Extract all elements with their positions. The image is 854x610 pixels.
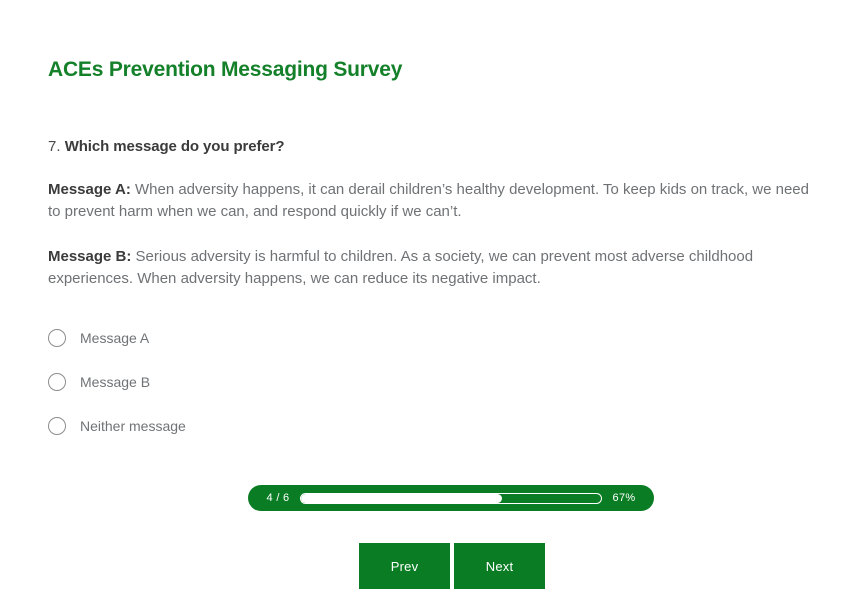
next-button[interactable]: Next bbox=[454, 543, 545, 589]
question-block: 7. Which message do you prefer? Message … bbox=[48, 136, 816, 313]
progress-bar: 4 / 6 67% bbox=[248, 485, 654, 511]
answer-options: Message A Message B Neither message bbox=[48, 320, 548, 452]
navigation-buttons: Prev Next bbox=[359, 543, 545, 589]
radio-button-icon[interactable] bbox=[48, 373, 66, 391]
progress-percent-label: 67% bbox=[602, 492, 646, 504]
message-b-paragraph: Message B: Serious adversity is harmful … bbox=[48, 246, 816, 290]
message-a-label: Message A: bbox=[48, 181, 131, 198]
option-message-a[interactable]: Message A bbox=[48, 320, 548, 355]
option-label: Message A bbox=[80, 329, 149, 347]
radio-button-icon[interactable] bbox=[48, 417, 66, 435]
message-b-body: Serious adversity is harmful to children… bbox=[48, 248, 753, 287]
message-b-label: Message B: bbox=[48, 248, 131, 265]
prev-button[interactable]: Prev bbox=[359, 543, 450, 589]
question-prompt: Which message do you prefer? bbox=[65, 138, 285, 155]
page-title: ACEs Prevention Messaging Survey bbox=[48, 58, 402, 82]
option-label: Neither message bbox=[80, 417, 186, 435]
survey-page: ACEs Prevention Messaging Survey 7. Whic… bbox=[0, 0, 854, 610]
question-heading: 7. Which message do you prefer? bbox=[48, 136, 816, 157]
message-a-paragraph: Message A: When adversity happens, it ca… bbox=[48, 179, 816, 223]
progress-count-label: 4 / 6 bbox=[256, 492, 300, 504]
question-number: 7. bbox=[48, 138, 61, 155]
progress-fill bbox=[301, 494, 502, 503]
radio-button-icon[interactable] bbox=[48, 329, 66, 347]
option-label: Message B bbox=[80, 373, 150, 391]
option-message-b[interactable]: Message B bbox=[48, 364, 548, 399]
progress-track bbox=[300, 493, 602, 504]
message-a-body: When adversity happens, it can derail ch… bbox=[48, 181, 809, 220]
option-neither-message[interactable]: Neither message bbox=[48, 408, 548, 443]
